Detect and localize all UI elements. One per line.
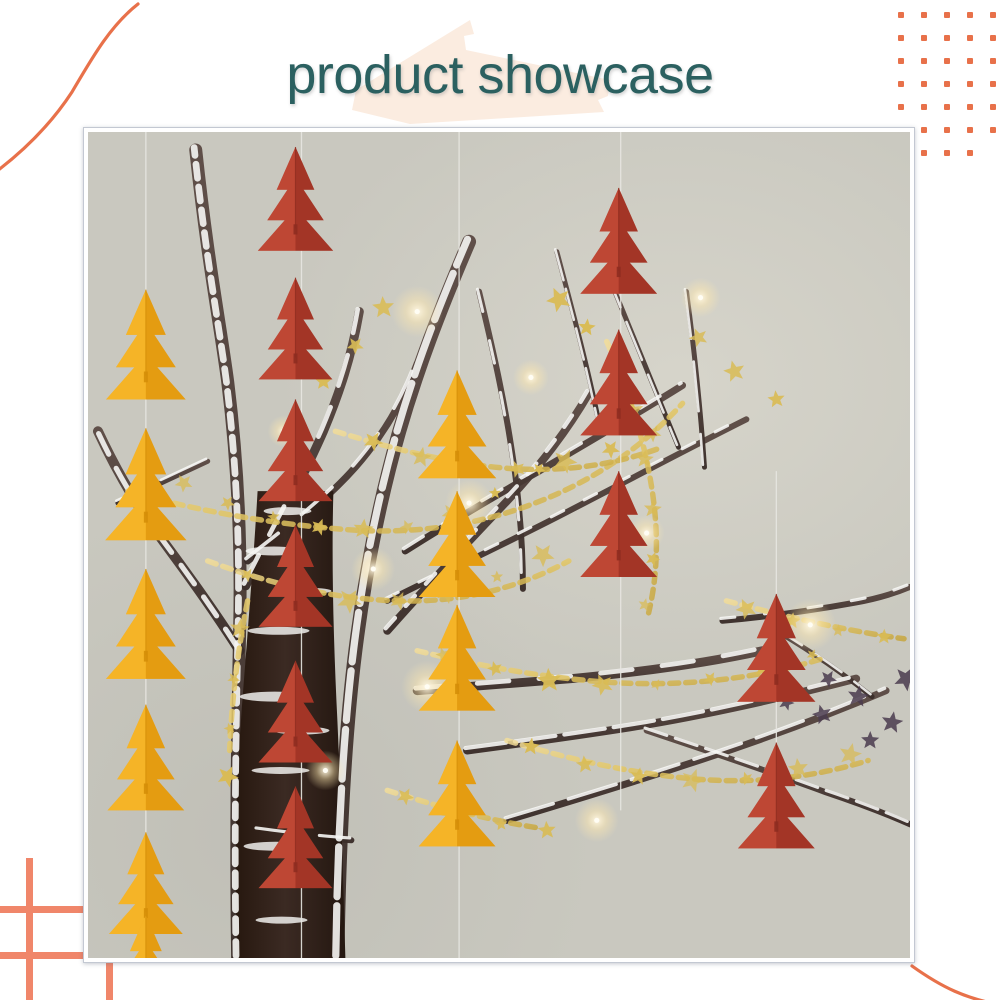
ornament-stem bbox=[294, 475, 298, 485]
ornament-left-fold bbox=[106, 290, 146, 400]
ornament-stem bbox=[294, 353, 298, 363]
yellow-paper-tree-ornament bbox=[107, 705, 184, 811]
ornament-left-fold bbox=[419, 741, 457, 847]
ornament-left-fold bbox=[259, 399, 296, 501]
grid-dot bbox=[944, 12, 950, 18]
ornament-stem bbox=[144, 783, 148, 793]
gold-star bbox=[723, 361, 744, 382]
grid-dot bbox=[967, 12, 973, 18]
gold-star bbox=[412, 447, 432, 467]
yellow-paper-tree-ornament bbox=[106, 290, 186, 400]
ornament-stem bbox=[294, 601, 298, 611]
trunk-snow bbox=[264, 507, 312, 515]
ornament-left-fold bbox=[580, 471, 618, 577]
gold-star bbox=[767, 390, 784, 407]
branch-snow bbox=[477, 289, 521, 586]
trunk-snow bbox=[256, 917, 308, 924]
light-bulb bbox=[425, 684, 430, 689]
grid-dot bbox=[967, 150, 973, 156]
ornament-stem bbox=[455, 819, 459, 829]
grid-dot bbox=[921, 12, 927, 18]
ornament-left-fold bbox=[738, 743, 776, 849]
grid-dot bbox=[967, 127, 973, 133]
ornament-left-fold bbox=[259, 278, 296, 380]
light-bulb bbox=[415, 309, 420, 314]
red-paper-tree-ornament bbox=[738, 743, 815, 849]
branch bbox=[98, 431, 240, 650]
poster-canvas: product showcase bbox=[0, 0, 1000, 1000]
product-photo bbox=[88, 132, 910, 958]
ornament-right-fold bbox=[619, 188, 657, 294]
grid-dot bbox=[990, 127, 996, 133]
red-paper-tree-ornament bbox=[258, 147, 333, 251]
grid-dot bbox=[944, 127, 950, 133]
dark-star bbox=[894, 668, 910, 692]
red-paper-tree-ornament bbox=[259, 399, 333, 501]
photo-scene bbox=[88, 132, 910, 958]
trunk-snow bbox=[252, 767, 310, 774]
ornament-right-fold bbox=[146, 832, 183, 934]
dark-star bbox=[861, 731, 879, 748]
light-bulb bbox=[528, 375, 533, 380]
grid-dot bbox=[967, 35, 973, 41]
yellow-paper-tree-ornament bbox=[419, 741, 496, 847]
ornament-stem bbox=[144, 372, 148, 383]
ornament-stem bbox=[294, 224, 298, 234]
ornament-left-fold bbox=[107, 705, 145, 811]
ornament-stem bbox=[294, 862, 298, 872]
gold-star bbox=[579, 319, 596, 336]
yellow-paper-tree-ornament bbox=[418, 370, 496, 478]
page-title: product showcase bbox=[0, 44, 1000, 106]
yellow-paper-tree-ornament bbox=[106, 569, 186, 679]
grid-dot bbox=[898, 35, 904, 41]
ornament-stem bbox=[774, 674, 778, 685]
ornament-stem bbox=[617, 408, 621, 418]
photo-frame bbox=[83, 127, 915, 963]
ornament-stem bbox=[455, 684, 459, 694]
trunk-snow bbox=[248, 627, 310, 635]
ornament-right-fold bbox=[295, 278, 332, 380]
light-bulb bbox=[323, 768, 328, 773]
light-bulb bbox=[644, 530, 649, 535]
grid-dot bbox=[944, 150, 950, 156]
gold-star bbox=[531, 545, 554, 567]
grid-dot bbox=[921, 127, 927, 133]
gold-star bbox=[491, 570, 503, 582]
grid-dot bbox=[990, 35, 996, 41]
grid-dot bbox=[921, 150, 927, 156]
ornament-right-fold bbox=[457, 741, 495, 847]
ornament-left-fold bbox=[580, 188, 618, 294]
ornament-left-fold bbox=[258, 147, 296, 251]
gold-star bbox=[546, 288, 570, 312]
yellow-paper-tree-ornament bbox=[105, 428, 186, 540]
ornament-stem bbox=[774, 821, 778, 831]
red-paper-tree-ornament bbox=[580, 188, 657, 294]
dark-star bbox=[882, 711, 903, 732]
ornament-right-fold bbox=[776, 743, 814, 849]
ornament-stem bbox=[144, 651, 148, 662]
ornament-stem bbox=[294, 737, 298, 747]
light-bulb bbox=[466, 501, 471, 506]
ornament-left-fold bbox=[106, 569, 146, 679]
ornament-stem bbox=[617, 550, 621, 560]
ornament-left-fold bbox=[580, 330, 618, 436]
ornament-right-fold bbox=[295, 147, 333, 251]
grid-dot bbox=[921, 35, 927, 41]
gold-star bbox=[602, 441, 620, 458]
ornament-right-fold bbox=[457, 605, 495, 711]
ornament-stem bbox=[455, 451, 459, 462]
ornament-stem bbox=[144, 512, 148, 523]
ornament-stem bbox=[617, 267, 621, 277]
gold-star bbox=[397, 788, 414, 805]
ornament-right-fold bbox=[146, 290, 186, 400]
gold-star bbox=[372, 296, 394, 317]
grid-dot bbox=[944, 35, 950, 41]
light-bulb bbox=[594, 818, 599, 823]
ornament-stem bbox=[455, 570, 459, 580]
light-bulb bbox=[698, 295, 703, 300]
gold-star bbox=[538, 821, 556, 839]
gold-star bbox=[876, 629, 891, 644]
ornament-right-fold bbox=[146, 705, 184, 811]
crosshatch-vline-1 bbox=[26, 858, 33, 1000]
grid-dot bbox=[990, 12, 996, 18]
swoosh-line bbox=[912, 966, 1000, 1000]
light-bulb bbox=[371, 566, 376, 571]
ornament-left-fold bbox=[109, 832, 146, 934]
grid-dot bbox=[898, 12, 904, 18]
red-paper-tree-ornament bbox=[259, 278, 333, 380]
light-bulb bbox=[808, 622, 813, 627]
ornament-right-fold bbox=[146, 569, 186, 679]
fairy-lights bbox=[268, 278, 837, 843]
ornament-right-fold bbox=[457, 370, 496, 478]
